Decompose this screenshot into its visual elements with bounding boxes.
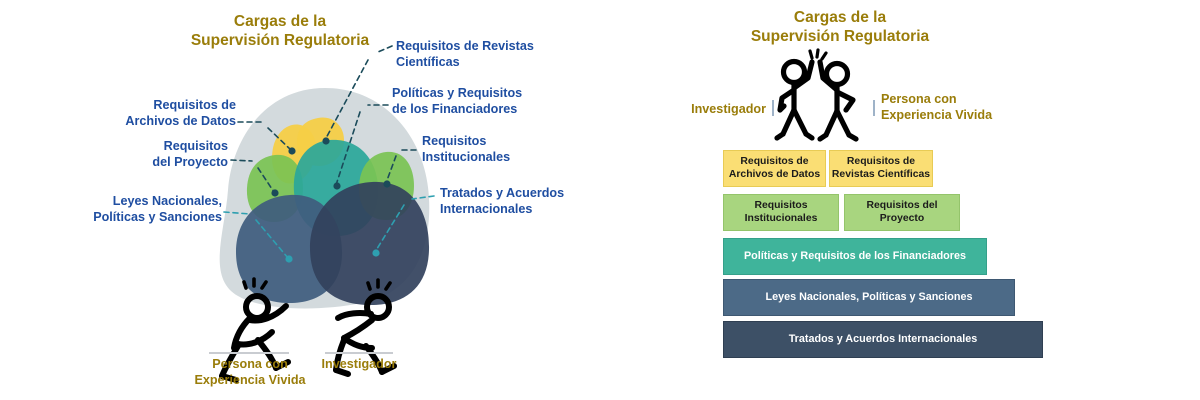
infographic-canvas: Cargas de la Supervisión Regulatoria xyxy=(0,0,1200,400)
callout-politicas-financiadores: Políticas y Requisitos de los Financiado… xyxy=(392,85,577,117)
bar-leyes-nacionales[interactable]: Leyes Nacionales, Políticas y Sanciones xyxy=(723,279,1015,316)
callout-archivos-de-datos: Requisitos de Archivos de Datos xyxy=(56,97,236,129)
person-label-persona-experiencia-left: Persona con Experiencia Vivida xyxy=(180,356,320,388)
callout-revistas-cientificas: Requisitos de Revistas Científicas xyxy=(396,38,576,70)
person-celebrating-icon-left xyxy=(777,62,812,139)
right-panel-title: Cargas de la Supervisión Regulatoria xyxy=(690,8,990,47)
person-connector-tick-left xyxy=(772,100,774,116)
bar-requisitos-del-proyecto[interactable]: Requisitos del Proyecto xyxy=(844,194,960,231)
person-connector-tick-right xyxy=(873,100,875,116)
person-celebrating-icon-right xyxy=(820,62,856,139)
callout-requisitos-del-proyecto: Requisitos del Proyecto xyxy=(56,138,228,170)
person-label-underline-right xyxy=(325,352,393,354)
bar-archivos-de-datos[interactable]: Requisitos de Archivos de Datos xyxy=(723,150,826,187)
bar-tratados-internacionales[interactable]: Tratados y Acuerdos Internacionales xyxy=(723,321,1043,358)
bar-revistas-cientificas[interactable]: Requisitos de Revistas Científicas xyxy=(829,150,933,187)
callout-leyes-nacionales: Leyes Nacionales, Políticas y Sanciones xyxy=(22,193,222,225)
bar-requisitos-institucionales[interactable]: Requisitos Institucionales xyxy=(723,194,839,231)
person-label-investigador-left: Investigador xyxy=(302,356,416,372)
person-label-investigador-right: Investigador xyxy=(640,101,766,117)
bar-politicas-financiadores[interactable]: Políticas y Requisitos de los Financiado… xyxy=(723,238,987,275)
person-label-underline-left xyxy=(209,352,289,354)
callout-tratados-internacionales: Tratados y Acuerdos Internacionales xyxy=(440,185,615,217)
person-label-persona-experiencia-right: Persona con Experiencia Vivida xyxy=(881,91,1051,123)
celebration-spark-icon xyxy=(810,50,826,59)
callout-requisitos-institucionales: Requisitos Institucionales xyxy=(422,133,592,165)
